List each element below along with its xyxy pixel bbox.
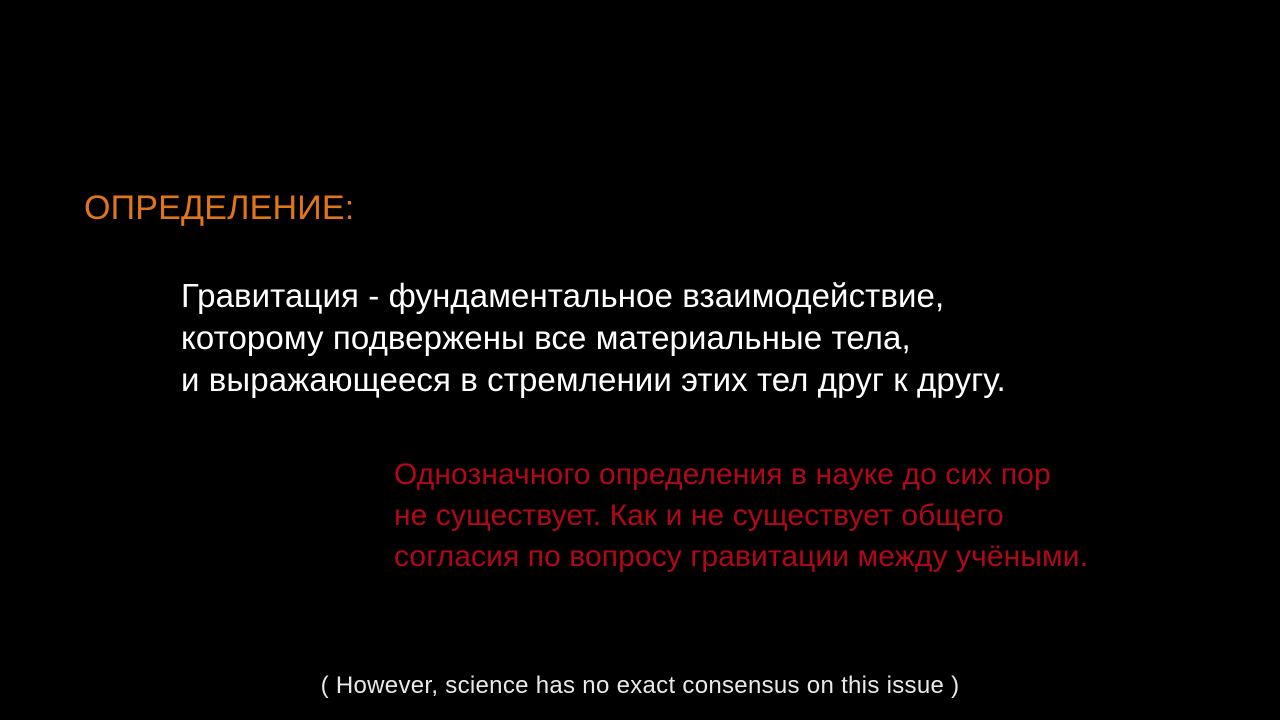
caveat-text-block: Однозначного определения в науке до сих …: [394, 454, 1088, 577]
definition-text-block: Гравитация - фундаментальное взаимодейст…: [181, 275, 1006, 401]
definition-line-2: которому подвержены все материальные тел…: [181, 317, 1006, 359]
definition-line-1: Гравитация - фундаментальное взаимодейст…: [181, 275, 1006, 317]
caveat-line-3: согласия по вопросу гравитации между учё…: [394, 536, 1088, 577]
slide-canvas: ОПРЕДЕЛЕНИЕ: Гравитация - фундаментально…: [0, 0, 1280, 720]
slide-heading: ОПРЕДЕЛЕНИЕ:: [84, 188, 354, 228]
english-subtitle-caption: ( However, science has no exact consensu…: [0, 671, 1280, 701]
caveat-line-2: не существует. Как и не существует общег…: [394, 495, 1088, 536]
caveat-line-1: Однозначного определения в науке до сих …: [394, 454, 1088, 495]
definition-line-3: и выражающееся в стремлении этих тел дру…: [181, 359, 1006, 401]
